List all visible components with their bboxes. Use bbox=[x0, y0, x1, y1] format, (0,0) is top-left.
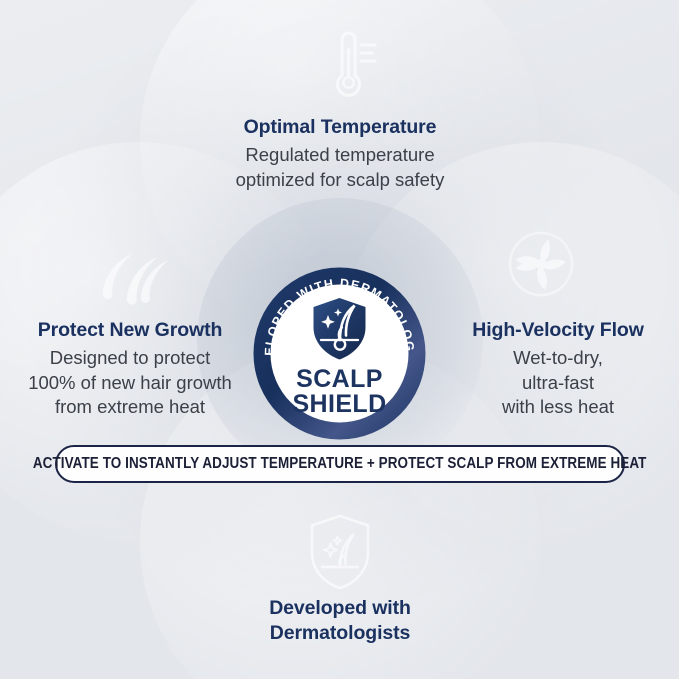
feature-left-heading: Protect New Growth bbox=[4, 319, 256, 342]
scalp-shield-badge: DEVELOPED WITH DERMATOLOGISTS STYLIST AP… bbox=[252, 266, 427, 441]
activate-banner-text: ACTIVATE TO INSTANTLY ADJUST TEMPERATURE… bbox=[33, 455, 647, 473]
feature-right-heading: High-Velocity Flow bbox=[440, 319, 676, 342]
activate-banner[interactable]: ACTIVATE TO INSTANTLY ADJUST TEMPERATURE… bbox=[55, 445, 625, 483]
feature-bottom-heading-line2: Dermatologists bbox=[270, 622, 411, 644]
feature-right-line1: Wet-to-dry, bbox=[513, 347, 603, 368]
feature-top-line1: Regulated temperature bbox=[245, 144, 434, 165]
feature-right-body: Wet-to-dry, ultra-fast with less heat bbox=[440, 346, 676, 420]
feature-top-line2: optimized for scalp safety bbox=[236, 169, 445, 190]
feature-bottom: Developed with Dermatologists bbox=[200, 596, 480, 650]
feature-top: Optimal Temperature Regulated temperatur… bbox=[170, 116, 510, 192]
feature-left-line3: from extreme heat bbox=[55, 396, 205, 417]
feature-top-body: Regulated temperature optimized for scal… bbox=[170, 143, 510, 192]
feature-left: Protect New Growth Designed to protect 1… bbox=[4, 319, 256, 420]
feature-right: High-Velocity Flow Wet-to-dry, ultra-fas… bbox=[440, 319, 676, 420]
feature-left-line2: 100% of new hair growth bbox=[28, 372, 232, 393]
feature-top-heading: Optimal Temperature bbox=[170, 116, 510, 139]
thermometer-icon bbox=[311, 28, 379, 100]
fan-icon bbox=[508, 231, 574, 297]
feature-bottom-heading: Developed with Dermatologists bbox=[200, 596, 480, 646]
feature-right-line2: ultra-fast bbox=[522, 372, 594, 393]
badge-title-line1: SCALP bbox=[296, 365, 383, 393]
feature-left-line1: Designed to protect bbox=[50, 347, 210, 368]
shield-hair-icon bbox=[303, 512, 377, 592]
feature-right-line3: with less heat bbox=[502, 396, 614, 417]
feature-left-body: Designed to protect 100% of new hair gro… bbox=[4, 346, 256, 420]
product-feature-infographic: Optimal Temperature Regulated temperatur… bbox=[0, 0, 679, 679]
hair-follicles-icon bbox=[97, 232, 175, 308]
feature-bottom-heading-line1: Developed with bbox=[269, 597, 411, 619]
badge-title-line2: SHIELD bbox=[292, 390, 386, 418]
